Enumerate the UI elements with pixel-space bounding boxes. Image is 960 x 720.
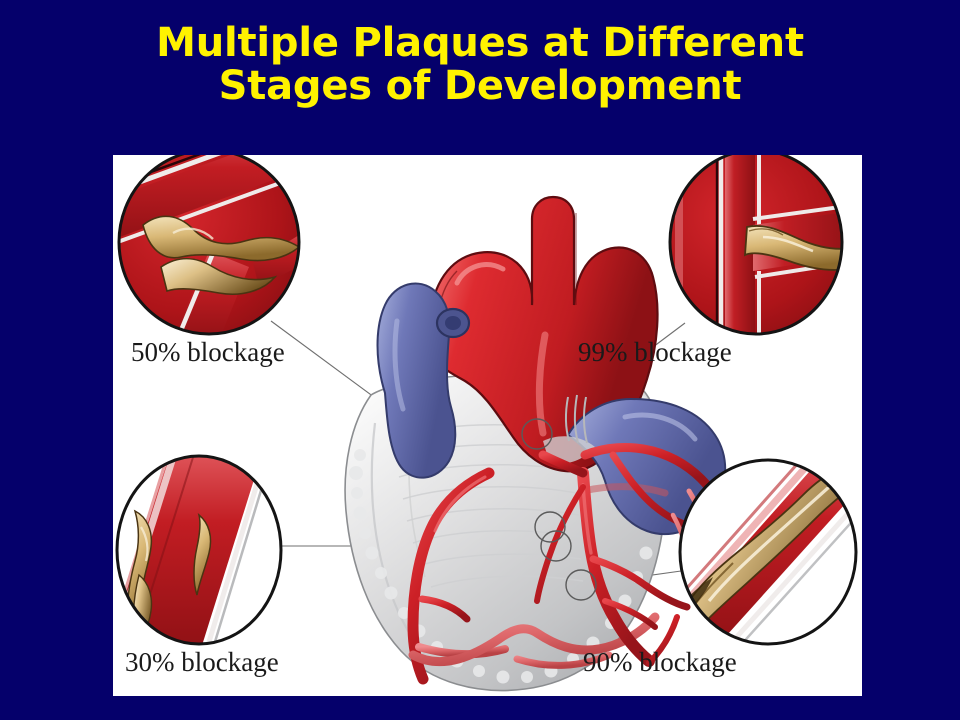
callout-label-30: 30% blockage [125, 647, 279, 678]
title-line-2: Stages of Development [0, 65, 960, 108]
callout-circle-30[interactable] [113, 451, 293, 655]
callout-label-50: 50% blockage [131, 337, 285, 368]
slide-canvas: Multiple Plaques at Different Stages of … [0, 0, 960, 720]
title-line-1: Multiple Plaques at Different [0, 22, 960, 65]
vessel-stump-inner [445, 316, 461, 330]
callout-circle-50[interactable] [113, 155, 313, 345]
callout-circle-99[interactable] [663, 155, 862, 345]
callout-label-99: 99% blockage [578, 337, 732, 368]
heart-illustration [345, 197, 725, 690]
heart-plaque-diagram [113, 155, 862, 696]
figure-panel: 50% blockage 99% blockage 30% blockage 9… [113, 155, 862, 696]
callout-label-90: 90% blockage [583, 647, 737, 678]
page-title: Multiple Plaques at Different Stages of … [0, 22, 960, 108]
